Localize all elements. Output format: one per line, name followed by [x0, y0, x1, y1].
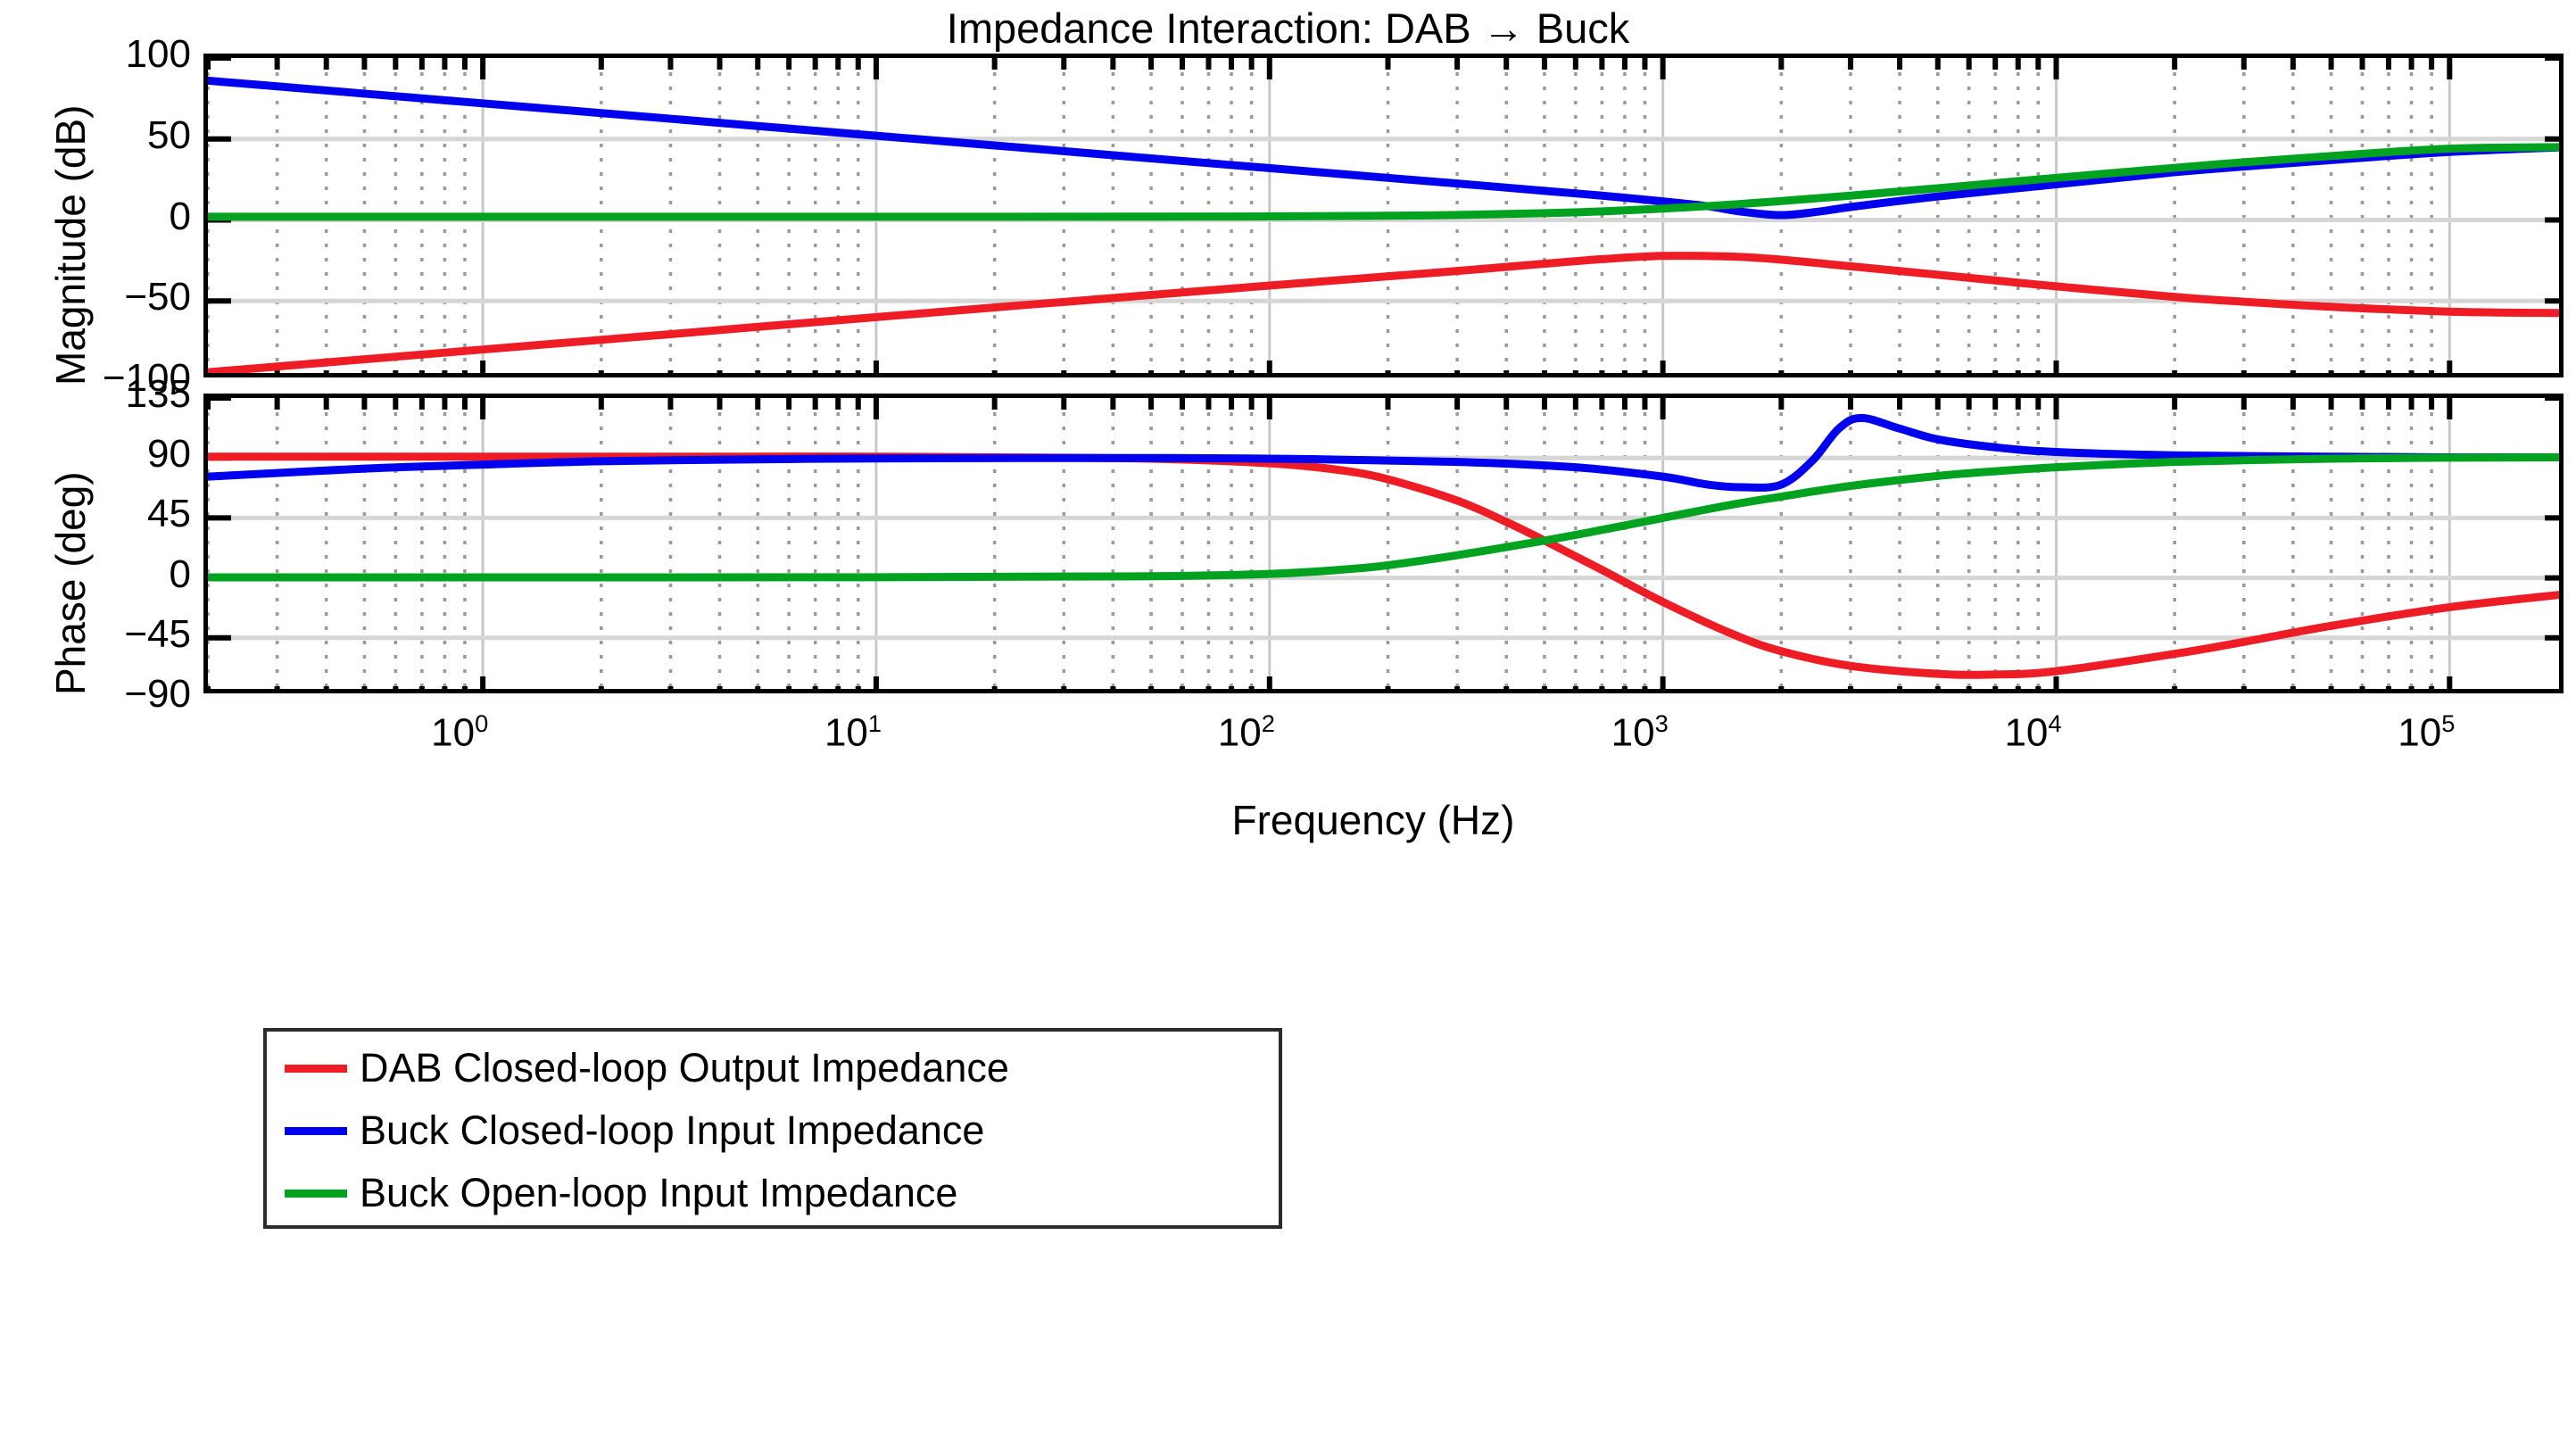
magnitude-axis-label: Magnitude (dB) [46, 104, 95, 386]
phase-tick-label: 90 [147, 432, 191, 477]
legend-label: Buck Open-loop Input Impedance [360, 1170, 957, 1216]
legend-item[interactable]: Buck Open-loop Input Impedance [267, 1162, 1279, 1224]
legend-color-swatch [285, 1127, 347, 1135]
bode-plot-figure: Impedance Interaction: DAB → Buck 100500… [0, 0, 2576, 1451]
frequency-tick-label: 100 [431, 709, 488, 756]
phase-axis-label: Phase (deg) [46, 471, 95, 695]
frequency-tick-label: 103 [1611, 709, 1669, 756]
frequency-tick-label: 101 [824, 709, 882, 756]
phase-tick-label: 135 [126, 372, 191, 417]
series-line [208, 147, 2564, 217]
legend-label: Buck Closed-loop Input Impedance [360, 1107, 984, 1154]
magnitude-tick-label: 50 [147, 113, 191, 158]
legend-box: DAB Closed-loop Output ImpedanceBuck Clo… [263, 1028, 1282, 1229]
phase-tick-label: −90 [124, 672, 191, 717]
legend-item[interactable]: DAB Closed-loop Output Impedance [267, 1037, 1279, 1099]
legend-label: DAB Closed-loop Output Impedance [360, 1045, 1009, 1091]
series-line [208, 256, 2564, 373]
frequency-tick-label: 104 [2004, 709, 2061, 756]
phase-tick-label: 0 [170, 552, 191, 597]
series-line [208, 80, 2564, 215]
phase-subplot [203, 394, 2564, 693]
frequency-tick-label: 105 [2398, 709, 2455, 756]
page-title: Impedance Interaction: DAB → Buck [0, 4, 2576, 53]
legend-color-swatch [285, 1065, 347, 1073]
magnitude-subplot [203, 54, 2564, 377]
magnitude-plot-canvas [203, 54, 2564, 377]
legend-color-swatch [285, 1190, 347, 1198]
phase-tick-label: −45 [124, 612, 191, 657]
legend-item[interactable]: Buck Closed-loop Input Impedance [267, 1099, 1279, 1162]
frequency-axis-label: Frequency (Hz) [1232, 796, 1515, 844]
magnitude-tick-label: 100 [126, 32, 191, 77]
phase-tick-label: 45 [147, 492, 191, 536]
magnitude-tick-label: 0 [170, 195, 191, 239]
phase-plot-canvas [203, 394, 2564, 693]
magnitude-tick-label: −50 [124, 275, 191, 319]
frequency-tick-label: 102 [1218, 709, 1275, 756]
